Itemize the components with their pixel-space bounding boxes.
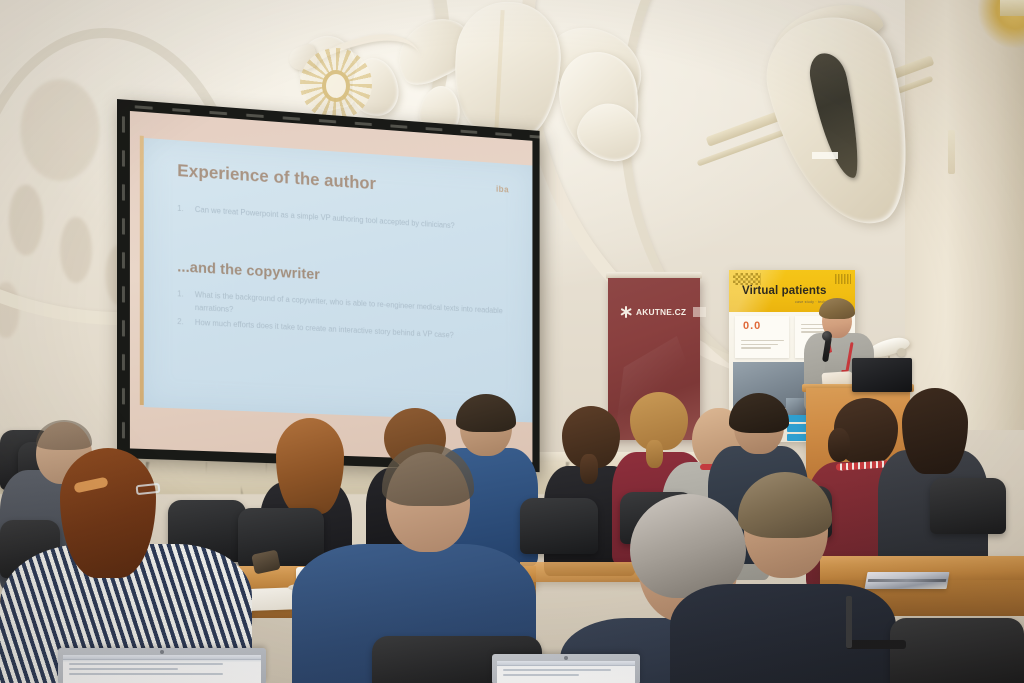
- audience-laptop-left[interactable]: [58, 648, 266, 683]
- document-line: [503, 669, 611, 671]
- chair: [520, 498, 598, 554]
- laptop-screen: [492, 654, 640, 683]
- wall-plaque-strip: [812, 152, 838, 159]
- hair-bun: [828, 428, 850, 462]
- iba-logo: iba: [496, 184, 509, 194]
- pilaster-band: [948, 130, 955, 174]
- hair: [276, 418, 344, 514]
- slide-canvas: Experience of the author iba 1. Can we t…: [144, 138, 533, 423]
- torso: [670, 584, 896, 683]
- grey-hair: [630, 494, 746, 598]
- document-line: [69, 668, 178, 670]
- vp-card-left-text: [741, 340, 784, 351]
- hair: [902, 388, 968, 474]
- checker-pattern-icon: [733, 273, 761, 285]
- webcam-icon: [160, 650, 164, 654]
- speaker-hair: [819, 298, 855, 319]
- chair: [890, 618, 1024, 683]
- presenter-laptop: [852, 358, 912, 392]
- document-line: [69, 673, 223, 675]
- document-toolbar: [63, 655, 261, 660]
- laptop-document: [63, 655, 261, 683]
- magazine-stack: [865, 572, 950, 589]
- slide-section-one: 1. Can we treat Powerpoint as a simple V…: [177, 203, 511, 236]
- vp-card-left: 0.0: [735, 316, 789, 358]
- bullet-number: 2.: [177, 316, 186, 329]
- vp-stat-number: 0.0: [743, 320, 761, 332]
- bullet-text: Can we treat Powerpoint as a simple VP a…: [195, 204, 455, 232]
- conference-room-photo: Experience of the author iba 1. Can we t…: [0, 0, 1024, 683]
- document-line: [69, 663, 223, 665]
- chair: [930, 478, 1006, 534]
- akutne-banner-name: AKUTNE.CZ: [636, 307, 686, 317]
- chair: [238, 508, 324, 568]
- audience-laptop-center[interactable]: [492, 654, 640, 683]
- chair-armrest: [846, 640, 906, 649]
- chair-leg: [846, 596, 852, 648]
- hair: [60, 448, 156, 578]
- laptop-document: [497, 661, 635, 683]
- webcam-icon: [564, 656, 568, 660]
- slide-section-two: 1. What is the background of a copywrite…: [177, 288, 511, 344]
- akutne-secondary-logo: [693, 307, 706, 317]
- ceiling-ledge: [1000, 0, 1024, 16]
- slide-title: Experience of the author: [177, 160, 511, 203]
- asterisk-cross-icon: [620, 306, 632, 318]
- sunburst-center-oval: [322, 70, 350, 102]
- ponytail: [580, 454, 598, 484]
- ponytail: [646, 440, 663, 468]
- vp-banner-title: Virtual patients: [742, 285, 826, 297]
- slide-subtitle: ...and the copywriter: [177, 259, 511, 294]
- wall-lamp-knob: [897, 348, 906, 357]
- vp-corner-pattern-icon: [835, 274, 851, 284]
- laptop-screen: [58, 648, 266, 683]
- list-item: 1. Can we treat Powerpoint as a simple V…: [177, 203, 511, 236]
- document-line: [503, 674, 579, 676]
- bullet-number: 1.: [177, 203, 186, 216]
- document-toolbar: [497, 661, 635, 666]
- presentation-slide: Experience of the author iba 1. Can we t…: [144, 138, 533, 423]
- bullet-number: 1.: [177, 288, 186, 313]
- microphone-head: [822, 331, 832, 341]
- akutne-logo-row: AKUTNE.CZ: [620, 306, 706, 318]
